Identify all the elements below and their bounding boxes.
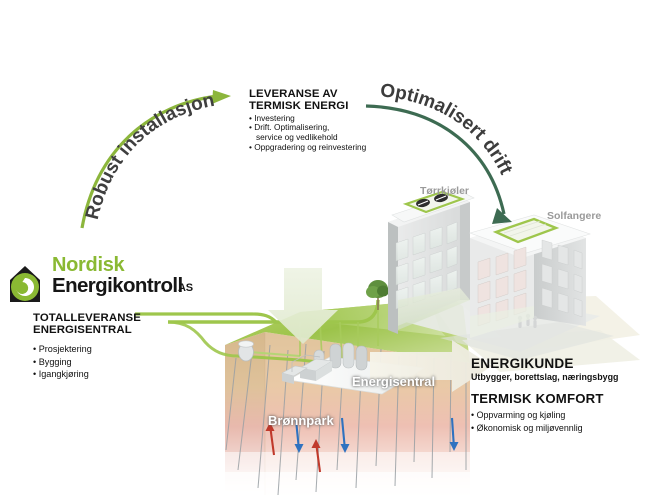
label-torrkjoler: Tørrkjøler	[420, 185, 469, 197]
leveranse-bullet-3: • Oppgradering og reinvestering	[249, 143, 409, 153]
leveranse-heading-line2: TERMISK ENERGI	[249, 100, 409, 112]
label-energisentral: Energisentral	[352, 374, 435, 389]
energikunde-subheading: Utbygger, borettslag, næringsbygg	[471, 372, 649, 382]
logo-word-as: AS	[178, 282, 193, 294]
label-solfangere: Solfangere	[547, 210, 601, 222]
energikunde-heading: ENERGIKUNDE	[471, 356, 649, 371]
termisk-komfort-bullet-1: • Oppvarming og kjøling	[471, 409, 649, 422]
termisk-komfort-bullet-2: • Økonomisk og miljøvennlig	[471, 422, 649, 435]
arc-robust-installasjon: Robust installasjon	[82, 90, 231, 228]
infographic-canvas: Robust installasjon Optimalisert drift	[0, 0, 650, 500]
label-bronnpark: Brønnpark	[268, 413, 334, 428]
totalleveranse-heading-line2: ENERGISENTRAL	[33, 324, 223, 336]
leveranse-heading-line1: LEVERANSE AV	[249, 88, 409, 100]
termisk-komfort-heading: TERMISK KOMFORT	[471, 391, 649, 406]
block-energikunde: ENERGIKUNDE Utbygger, borettslag, næring…	[471, 356, 649, 435]
arc-left-label-text: Robust installasjon	[82, 90, 216, 222]
block-leveranse-termisk-energi: LEVERANSE AV TERMISK ENERGI • Investerin…	[249, 88, 409, 153]
totalleveranse-heading-line1: TOTALLEVERANSE	[33, 312, 223, 324]
totalleveranse-bullet-2: • Bygging	[33, 356, 223, 369]
termisk-komfort-bullets: • Oppvarming og kjøling • Økonomisk og m…	[471, 409, 649, 435]
logo-wordmark[interactable]: Nordisk Energikontroll AS	[6, 255, 211, 307]
block-totalleveranse-energisentral: TOTALLEVERANSE ENERGISENTRAL • Prosjekte…	[33, 312, 223, 381]
logo-word-energikontroll: Energikontroll	[52, 274, 183, 298]
leveranse-bullets: • Investering • Drift. Optimalisering, s…	[249, 114, 409, 153]
totalleveranse-bullets: • Prosjektering • Bygging • Igangkjøring	[33, 343, 223, 382]
totalleveranse-bullet-1: • Prosjektering	[33, 343, 223, 356]
arc-left-label: Robust installasjon	[82, 90, 216, 222]
totalleveranse-bullet-3: • Igangkjøring	[33, 368, 223, 381]
